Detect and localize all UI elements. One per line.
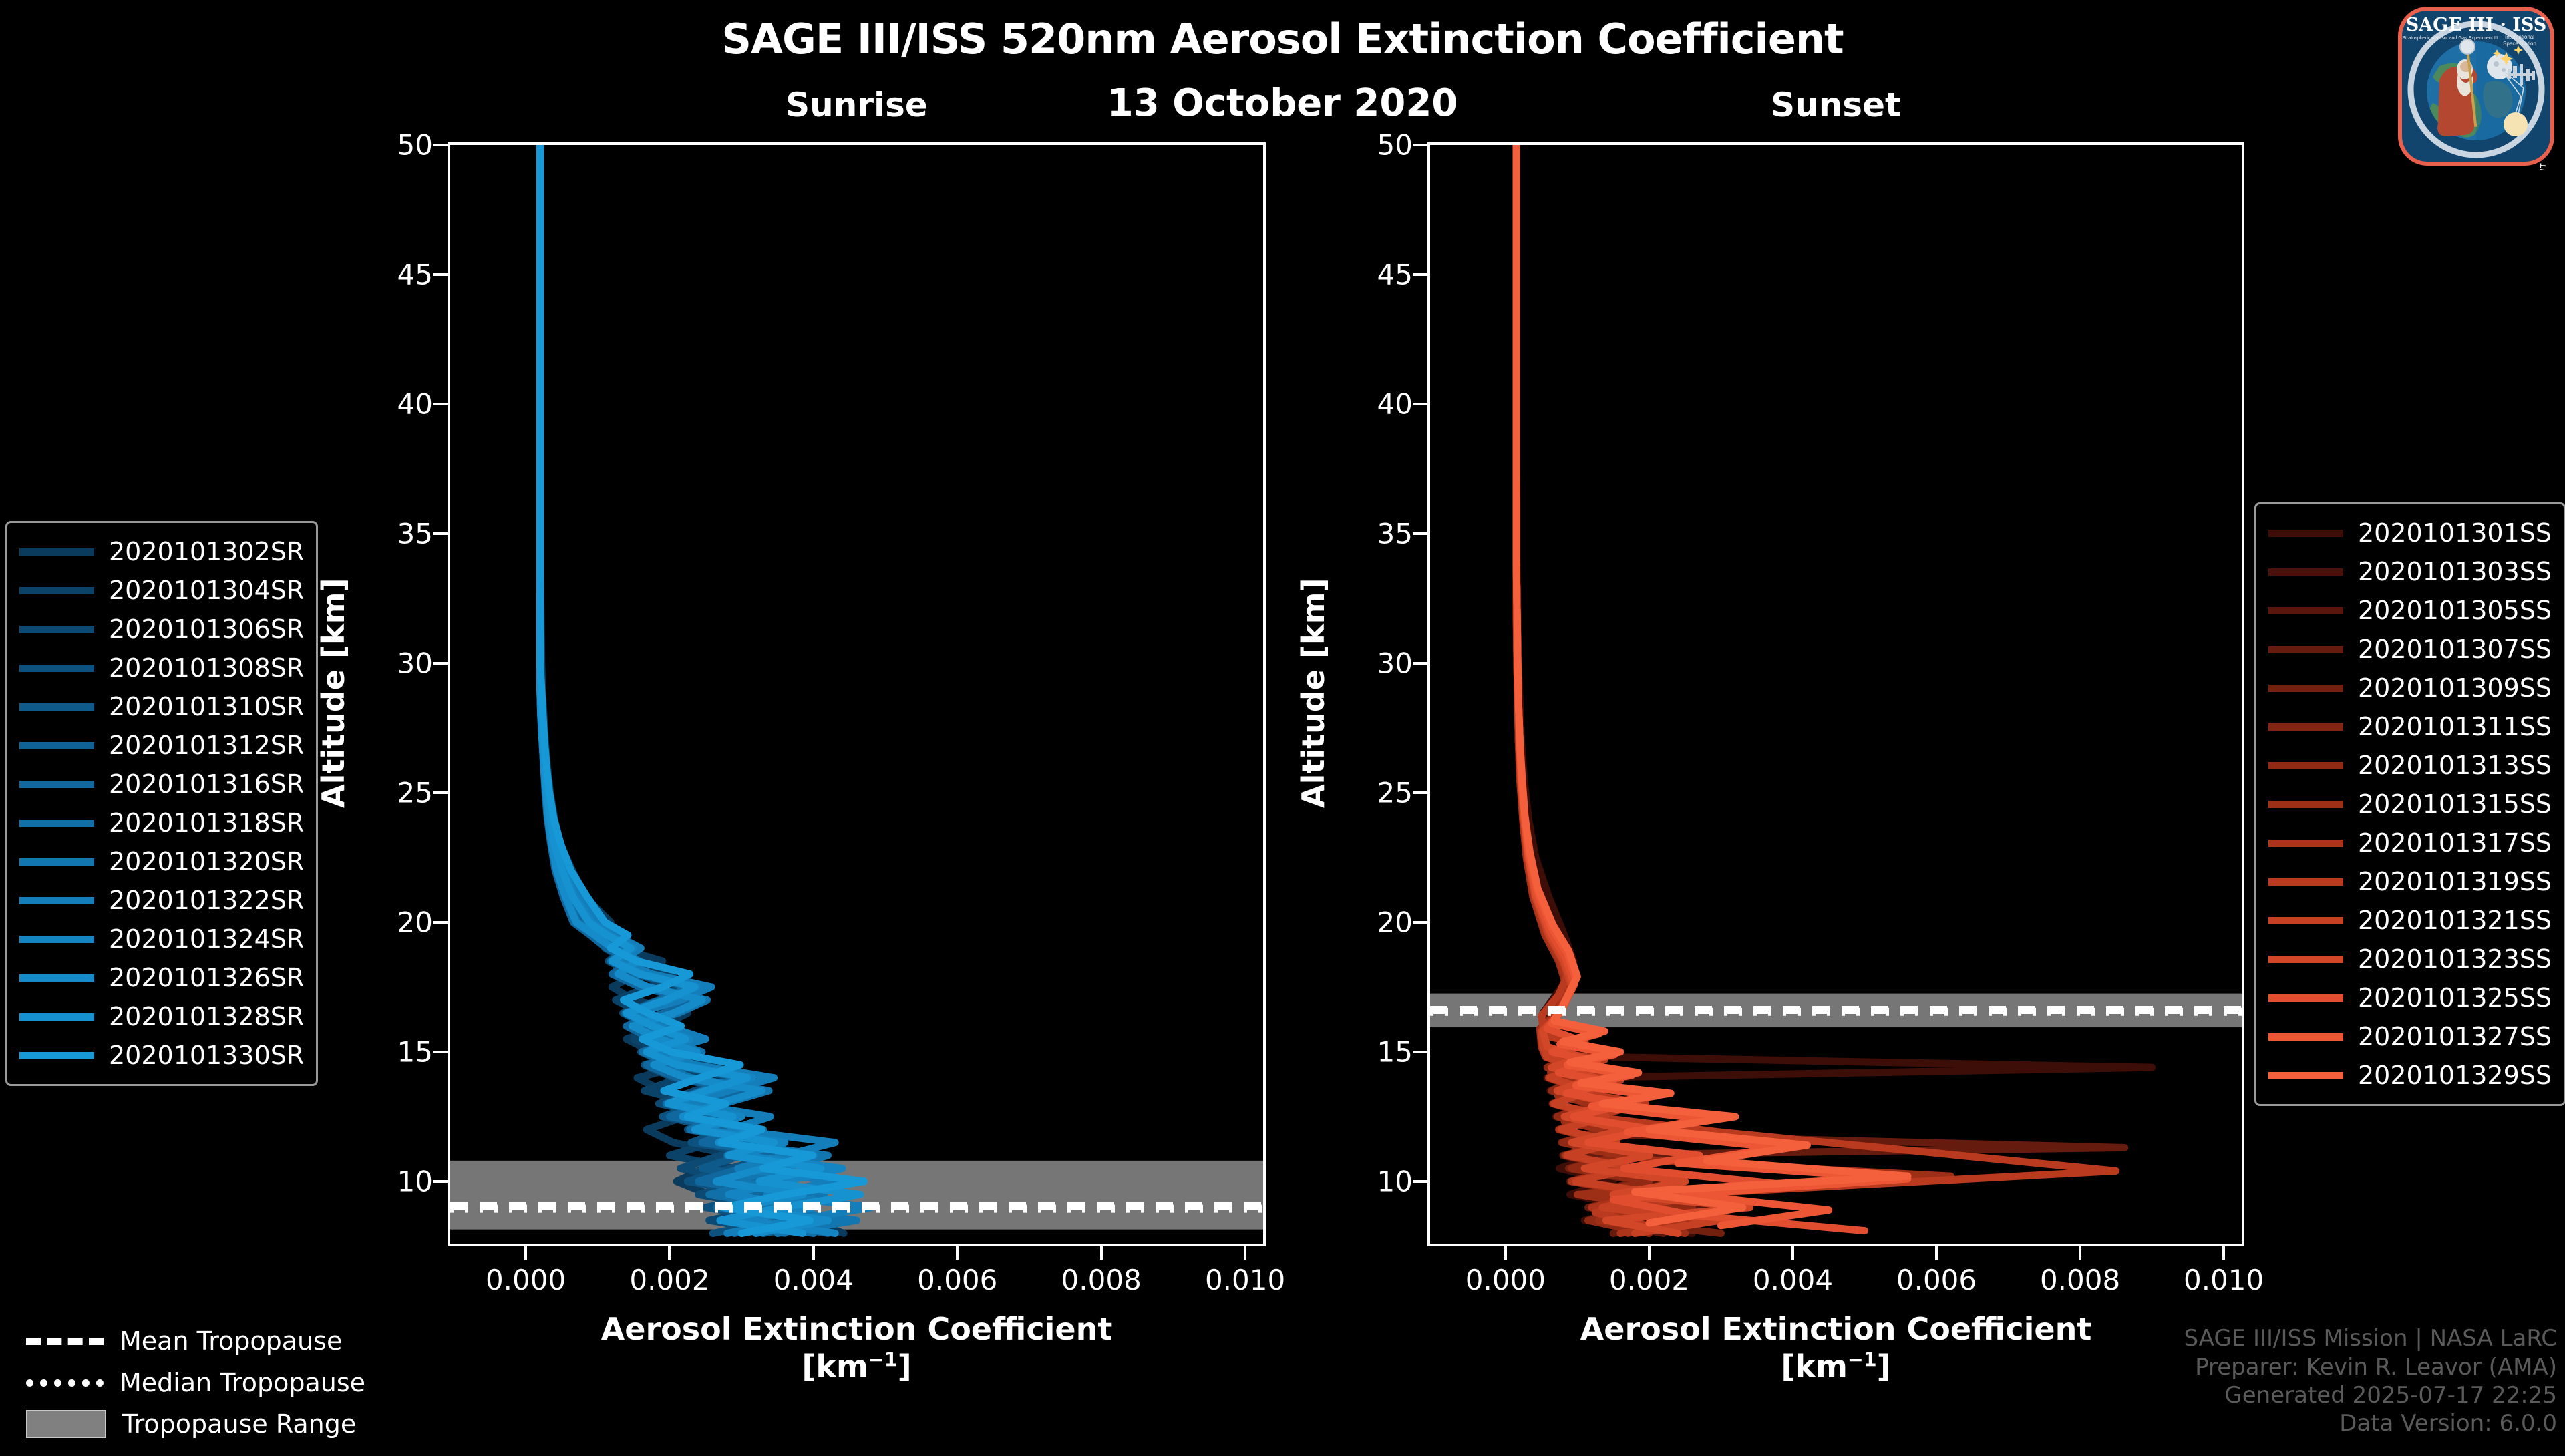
legend-label: 2020101319SS xyxy=(2358,867,2552,896)
y-axis-tick-label: 15 xyxy=(1334,1035,1413,1068)
legend-item[interactable]: 2020101316SR xyxy=(19,765,304,803)
legend-label: 2020101309SS xyxy=(2358,673,2552,703)
legend-label: 2020101301SS xyxy=(2358,518,2552,548)
credits-line-mission: SAGE III/ISS Mission | NASA LaRC xyxy=(2184,1324,2557,1352)
y-axis-tick-label: 50 xyxy=(1334,129,1413,162)
legend-label: 2020101305SS xyxy=(2358,596,2552,625)
x-axis-tick-mark xyxy=(1100,1246,1103,1260)
sage-iii-iss-mission-patch-logo: SAGE III · ISS Stratospheric Aerosol and… xyxy=(2393,3,2560,170)
shaded-band-icon xyxy=(26,1410,106,1438)
y-axis-tick-label: 30 xyxy=(354,647,433,679)
legend-color-swatch xyxy=(19,1052,94,1059)
legend-color-swatch xyxy=(2268,762,2343,769)
legend-label: 2020101321SS xyxy=(2358,906,2552,935)
x-axis-tick-label: 0.000 xyxy=(1466,1264,1546,1296)
credits-block: SAGE III/ISS Mission | NASA LaRC Prepare… xyxy=(2184,1324,2557,1437)
x-axis-label-text: Aerosol Extinction Coefficient xyxy=(1427,1310,2244,1348)
legend-label: 2020101329SS xyxy=(2358,1061,2552,1090)
legend-color-swatch xyxy=(2268,956,2343,963)
y-axis-tick-label: 45 xyxy=(1334,258,1413,291)
legend-color-swatch xyxy=(19,665,94,672)
tropopause-legend: Mean Tropopause Median Tropopause Tropop… xyxy=(12,1309,379,1456)
y-axis-tick-label: 20 xyxy=(354,906,433,938)
logo-subtitle-left: Stratospheric Aerosol and Gas Experiment… xyxy=(2402,35,2498,41)
credits-line-generated: Generated 2025-07-17 22:25 xyxy=(2184,1381,2557,1409)
legend-item-mean-tropopause: Mean Tropopause xyxy=(26,1320,365,1362)
legend-item[interactable]: 2020101304SR xyxy=(19,571,304,610)
legend-color-swatch xyxy=(2268,685,2343,692)
y-axis-label: Altitude [km] xyxy=(1295,578,1331,808)
legend-color-swatch xyxy=(19,858,94,866)
legend-label: 2020101312SR xyxy=(109,731,304,760)
legend-item[interactable]: 2020101327SS xyxy=(2268,1017,2552,1056)
legend-label: 2020101316SR xyxy=(109,769,304,799)
y-axis-tick-label: 30 xyxy=(1334,647,1413,679)
legend-item[interactable]: 2020101310SR xyxy=(19,687,304,726)
legend-label: 2020101307SS xyxy=(2358,634,2552,664)
dashed-line-icon xyxy=(26,1338,104,1345)
legend-color-swatch xyxy=(2268,607,2343,614)
legend-label-tropopause-range: Tropopause Range xyxy=(122,1409,356,1439)
legend-item[interactable]: 2020101309SS xyxy=(2268,669,2552,707)
y-axis-tick-mark xyxy=(1413,662,1427,665)
legend-label: 2020101322SR xyxy=(109,886,304,915)
logo-title: SAGE III · ISS xyxy=(2406,15,2547,35)
legend-label: 2020101324SR xyxy=(109,924,304,954)
legend-color-swatch xyxy=(2268,917,2343,924)
y-axis-tick-label: 45 xyxy=(354,258,433,291)
y-axis-tick-label: 20 xyxy=(1334,906,1413,938)
y-axis-tick-label: 50 xyxy=(354,129,433,162)
y-axis-tick-mark xyxy=(433,791,448,794)
x-axis-units: [km−1] xyxy=(448,1348,1266,1385)
legend-item[interactable]: 2020101311SS xyxy=(2268,707,2552,746)
x-axis-tick-mark xyxy=(2079,1246,2081,1260)
legend-label: 2020101302SR xyxy=(109,537,304,566)
legend-item[interactable]: 2020101329SS xyxy=(2268,1056,2552,1095)
legend-color-swatch xyxy=(19,974,94,982)
y-axis-tick-mark xyxy=(1413,532,1427,535)
legend-color-swatch xyxy=(19,587,94,594)
logo-subtitle-right-2: Space Station xyxy=(2503,41,2536,47)
legend-label: 2020101315SS xyxy=(2358,789,2552,819)
y-axis-tick-label: 10 xyxy=(354,1165,433,1198)
y-axis-tick-mark xyxy=(433,1180,448,1183)
y-axis-tick-label: 25 xyxy=(354,776,433,809)
x-axis-tick-mark xyxy=(1244,1246,1246,1260)
legend-item[interactable]: 2020101302SR xyxy=(19,532,304,571)
x-axis-units: [km−1] xyxy=(1427,1348,2244,1385)
x-axis-tick-mark xyxy=(1791,1246,1794,1260)
legend-item-median-tropopause: Median Tropopause xyxy=(26,1362,365,1403)
y-axis-tick-mark xyxy=(433,921,448,924)
x-axis-tick-label: 0.010 xyxy=(1205,1264,1285,1296)
legend-item[interactable]: 2020101313SS xyxy=(2268,746,2552,785)
legend-label: 2020101328SR xyxy=(109,1002,304,1031)
x-axis-tick-mark xyxy=(524,1246,527,1260)
y-axis-tick-mark xyxy=(1413,403,1427,405)
x-axis-tick-mark xyxy=(956,1246,959,1260)
legend-item[interactable]: 2020101303SS xyxy=(2268,552,2552,591)
legend-label: 2020101303SS xyxy=(2358,557,2552,586)
legend-label: 2020101308SR xyxy=(109,653,304,683)
legend-label: 2020101320SR xyxy=(109,847,304,876)
legend-item[interactable]: 2020101325SS xyxy=(2268,978,2552,1017)
x-axis-tick-label: 0.002 xyxy=(1609,1264,1689,1296)
x-axis-tick-label: 0.006 xyxy=(1896,1264,1977,1296)
y-axis-tick-label: 35 xyxy=(1334,517,1413,550)
x-axis-label-text: Aerosol Extinction Coefficient xyxy=(448,1310,1266,1348)
legend-label-median-tropopause: Median Tropopause xyxy=(120,1368,365,1397)
legend-color-swatch xyxy=(19,781,94,788)
legend-color-swatch xyxy=(19,1013,94,1021)
logo-subtitle-right-1: International xyxy=(2505,34,2534,40)
y-axis-tick-label: 40 xyxy=(1334,387,1413,420)
y-axis-tick-mark xyxy=(1413,921,1427,924)
y-axis-tick-mark xyxy=(433,662,448,665)
legend-item[interactable]: 2020101321SS xyxy=(2268,901,2552,940)
legend-color-swatch xyxy=(19,626,94,633)
y-axis-tick-label: 35 xyxy=(354,517,433,550)
legend-label: 2020101313SS xyxy=(2358,751,2552,780)
x-axis-tick-mark xyxy=(1504,1246,1507,1260)
x-axis-tick-label: 0.000 xyxy=(486,1264,566,1296)
legend-label: 2020101326SR xyxy=(109,963,304,992)
x-axis-label: Aerosol Extinction Coefficient[km−1] xyxy=(1427,1310,2244,1385)
x-axis-tick-label: 0.008 xyxy=(1061,1264,1142,1296)
legend-label: 2020101317SS xyxy=(2358,828,2552,858)
x-axis-tick-mark xyxy=(668,1246,671,1260)
legend-color-swatch xyxy=(2268,1033,2343,1041)
legend-item[interactable]: 2020101301SS xyxy=(2268,514,2552,552)
y-axis-tick-mark xyxy=(433,273,448,276)
legend-item[interactable]: 2020101312SR xyxy=(19,726,304,765)
x-axis-tick-mark xyxy=(2222,1246,2225,1260)
x-axis-tick-mark xyxy=(1935,1246,1938,1260)
legend-item[interactable]: 2020101330SR xyxy=(19,1036,304,1075)
legend-item[interactable]: 2020101317SS xyxy=(2268,824,2552,862)
legend-color-swatch xyxy=(19,703,94,711)
legend-label: 2020101327SS xyxy=(2358,1022,2552,1051)
legend-label: 2020101311SS xyxy=(2358,712,2552,741)
legend-color-swatch xyxy=(2268,568,2343,576)
legend-label-mean-tropopause: Mean Tropopause xyxy=(120,1326,342,1356)
legend-color-swatch xyxy=(19,548,94,556)
credits-line-version: Data Version: 6.0.0 xyxy=(2184,1409,2557,1437)
legend-item[interactable]: 2020101324SR xyxy=(19,920,304,958)
legend-item[interactable]: 2020101323SS xyxy=(2268,940,2552,978)
legend-color-swatch xyxy=(2268,801,2343,808)
credits-line-preparer: Preparer: Kevin R. Leavor (AMA) xyxy=(2184,1353,2557,1381)
x-axis-tick-label: 0.004 xyxy=(774,1264,854,1296)
legend-label: 2020101330SR xyxy=(109,1041,304,1070)
legend-item[interactable]: 2020101315SS xyxy=(2268,785,2552,824)
y-axis-label: Altitude [km] xyxy=(315,578,351,808)
y-axis-tick-mark xyxy=(1413,273,1427,276)
legend-item[interactable]: 2020101305SS xyxy=(2268,591,2552,630)
legend-item[interactable]: 2020101307SS xyxy=(2268,630,2552,669)
y-axis-tick-label: 15 xyxy=(354,1035,433,1068)
legend-item[interactable]: 2020101328SR xyxy=(19,997,304,1036)
legend-label: 2020101318SR xyxy=(109,808,304,838)
legend-item[interactable]: 2020101326SR xyxy=(19,958,304,997)
legend-color-swatch xyxy=(2268,646,2343,653)
x-axis-tick-label: 0.010 xyxy=(2184,1264,2264,1296)
x-axis-tick-label: 0.008 xyxy=(2040,1264,2120,1296)
y-axis-tick-mark xyxy=(433,403,448,405)
legend-color-swatch xyxy=(19,820,94,827)
y-axis-tick-mark xyxy=(1413,1051,1427,1053)
y-axis-tick-mark xyxy=(1413,791,1427,794)
y-axis-tick-label: 25 xyxy=(1334,776,1413,809)
x-axis-tick-label: 0.004 xyxy=(1753,1264,1833,1296)
x-axis-tick-label: 0.006 xyxy=(917,1264,997,1296)
sunrise-legend[interactable]: 2020101302SR2020101304SR2020101306SR2020… xyxy=(5,521,318,1086)
x-axis-tick-label: 0.002 xyxy=(629,1264,709,1296)
legend-color-swatch xyxy=(2268,878,2343,886)
legend-item[interactable]: 2020101308SR xyxy=(19,649,304,687)
legend-item[interactable]: 2020101318SR xyxy=(19,803,304,842)
sunset-legend[interactable]: 2020101301SS2020101303SS2020101305SS2020… xyxy=(2254,502,2565,1106)
legend-item[interactable]: 2020101322SR xyxy=(19,881,304,920)
dotted-line-icon xyxy=(26,1379,104,1387)
legend-color-swatch xyxy=(2268,1072,2343,1079)
y-axis-tick-mark xyxy=(433,144,448,146)
legend-item[interactable]: 2020101320SR xyxy=(19,842,304,881)
legend-color-swatch xyxy=(19,897,94,904)
legend-item[interactable]: 2020101306SR xyxy=(19,610,304,649)
legend-label: 2020101310SR xyxy=(109,692,304,721)
legend-label: 2020101304SR xyxy=(109,576,304,605)
x-axis-tick-mark xyxy=(1648,1246,1651,1260)
x-axis-label: Aerosol Extinction Coefficient[km−1] xyxy=(448,1310,1266,1385)
y-axis-tick-mark xyxy=(433,1051,448,1053)
legend-item-tropopause-range: Tropopause Range xyxy=(26,1403,365,1445)
legend-label: 2020101325SS xyxy=(2358,983,2552,1013)
legend-color-swatch xyxy=(2268,840,2343,847)
y-axis-tick-label: 10 xyxy=(1334,1165,1413,1198)
legend-color-swatch xyxy=(2268,530,2343,537)
axes-layer: 1015202530354045500.0000.0020.0040.0060.… xyxy=(0,0,2565,1443)
y-axis-tick-mark xyxy=(433,532,448,535)
legend-label: 2020101306SR xyxy=(109,614,304,644)
y-axis-tick-label: 40 xyxy=(354,387,433,420)
legend-color-swatch xyxy=(19,742,94,749)
y-axis-tick-mark xyxy=(1413,1180,1427,1183)
y-axis-tick-mark xyxy=(1413,144,1427,146)
legend-color-swatch xyxy=(2268,723,2343,731)
legend-item[interactable]: 2020101319SS xyxy=(2268,862,2552,901)
legend-label: 2020101323SS xyxy=(2358,944,2552,974)
legend-color-swatch xyxy=(19,936,94,943)
x-axis-tick-mark xyxy=(812,1246,815,1260)
legend-color-swatch xyxy=(2268,994,2343,1002)
